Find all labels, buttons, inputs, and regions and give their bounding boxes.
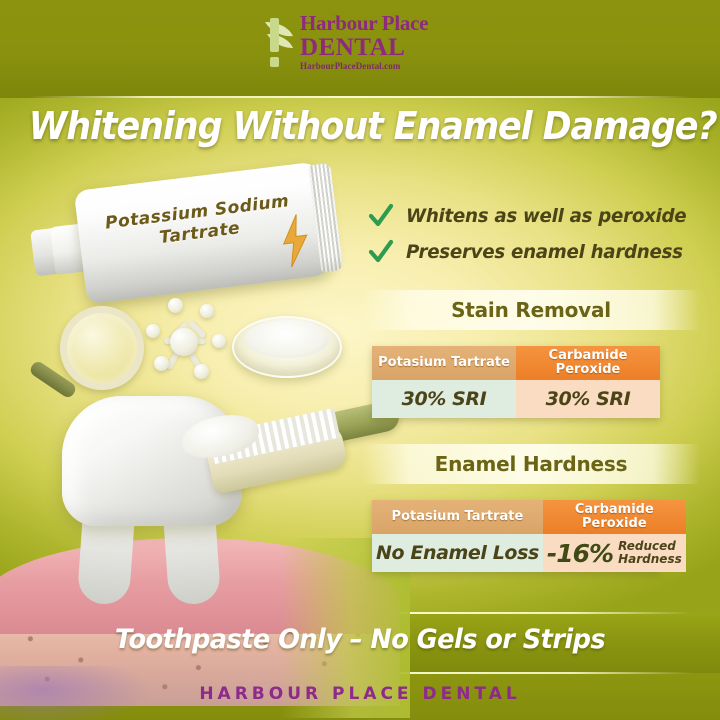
section-heading-enamel-hardness: Enamel Hardness	[362, 444, 700, 484]
illustration-group: Potassium Sodium Tartrate	[0, 98, 380, 628]
comparison-table-stain-removal: Potasium Tartrate Carbamide Peroxide 30%…	[372, 346, 660, 418]
cell-note-line-2: Hardness	[618, 552, 682, 566]
table-cell-right: 30% SRI	[516, 380, 660, 418]
brand-logo[interactable]: Harbour Place DENTAL HarbourPlaceDental.…	[262, 12, 462, 80]
infographic-poster: Harbour Place DENTAL HarbourPlaceDental.…	[0, 0, 720, 720]
logo-line-2: DENTAL	[300, 35, 428, 60]
comparison-table-enamel-hardness: Potasium Tartrate Carbamide Peroxide No …	[372, 500, 660, 572]
tagline: Toothpaste Only – No Gels or Strips	[18, 624, 702, 655]
footer-brand: HARBOUR PLACE DENTAL	[0, 684, 720, 704]
check-mark-icon	[368, 203, 394, 229]
cell-value: No Enamel Loss	[376, 542, 539, 564]
logo-line-1: Harbour Place	[300, 12, 428, 35]
benefit-text: Whitens as well as peroxide	[406, 205, 686, 227]
cell-value: 30% SRI	[402, 388, 487, 410]
molecule-icon	[128, 294, 238, 398]
table-cell-left: No Enamel Loss	[372, 534, 543, 572]
column-header-right: Carbamide Peroxide	[516, 346, 660, 380]
petri-powder	[245, 320, 329, 358]
benefit-text: Preserves enamel hardness	[406, 241, 683, 263]
cell-note: Reduced Hardness	[618, 540, 682, 566]
section-heading-stain-removal: Stain Removal	[362, 290, 700, 330]
column-header-left: Potasium Tartrate	[372, 500, 543, 534]
table-cell-left: 30% SRI	[372, 380, 516, 418]
benefits-list: Whitens as well as peroxide Preserves en…	[368, 198, 698, 270]
section-heading-label: Enamel Hardness	[435, 452, 628, 476]
toothpaste-tube: Potassium Sodium Tartrate	[24, 158, 346, 315]
column-header-right: Carbamide Peroxide	[543, 500, 686, 534]
leaf-exclamation-icon	[262, 16, 296, 72]
column-header-left: Potasium Tartrate	[372, 346, 516, 380]
cell-note-line-1: Reduced	[618, 539, 676, 553]
cell-value: -16%	[547, 539, 613, 568]
check-mark-icon	[368, 239, 394, 265]
section-heading-label: Stain Removal	[451, 298, 611, 322]
cell-value: 30% SRI	[546, 388, 631, 410]
list-item: Whitens as well as peroxide	[368, 198, 698, 234]
logo-website[interactable]: HarbourPlaceDental.com	[300, 60, 428, 73]
list-item: Preserves enamel hardness	[368, 234, 698, 270]
table-cell-right: -16% Reduced Hardness	[543, 534, 686, 572]
petri-dish-icon	[232, 308, 342, 388]
lightning-bolt-icon	[276, 213, 314, 269]
